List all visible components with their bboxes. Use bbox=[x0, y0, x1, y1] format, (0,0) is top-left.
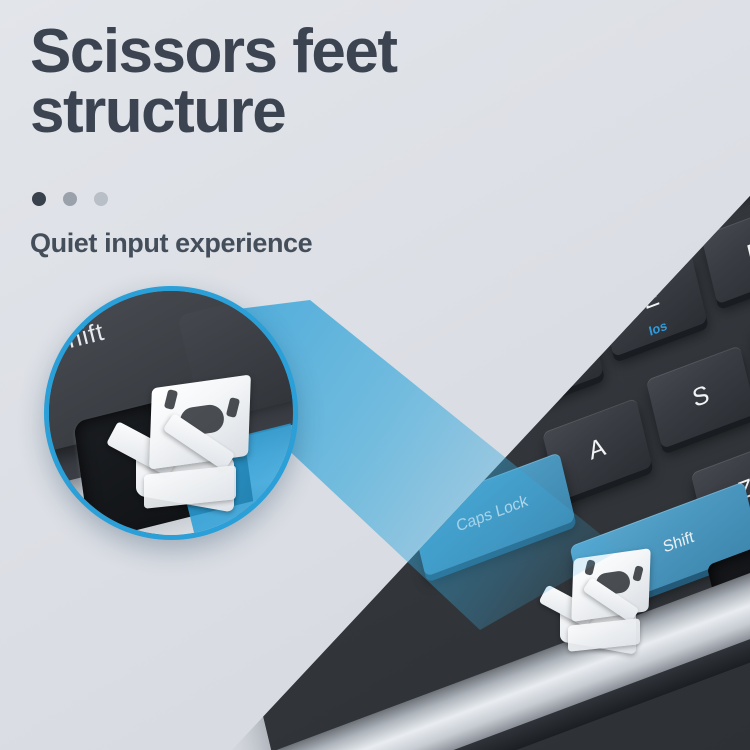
key-f1-label: F1 bbox=[343, 226, 363, 249]
bluetooth-icon bbox=[356, 361, 370, 380]
headline-line-2: structure bbox=[30, 82, 590, 142]
calculator-icon bbox=[691, 45, 714, 70]
key-5[interactable]: % 5 bbox=[674, 113, 750, 211]
dot-active bbox=[32, 192, 46, 206]
key-w-primary: W bbox=[533, 334, 562, 371]
key-4-primary: 4 bbox=[590, 229, 605, 254]
key-5-primary: 5 bbox=[690, 178, 705, 203]
key-r-primary: R bbox=[744, 235, 750, 270]
search-icon bbox=[590, 95, 613, 120]
key-f4-label: F4 bbox=[644, 75, 664, 98]
key-e-primary: E bbox=[640, 283, 662, 317]
page-subtitle: Quiet input experience bbox=[30, 228, 312, 259]
magnifier-callout: Shift bbox=[44, 286, 298, 540]
key-3-primary: 3 bbox=[490, 279, 505, 304]
page-title: Scissors feet structure bbox=[30, 22, 590, 142]
key-5-shift: % bbox=[683, 144, 699, 165]
key-e-secondary: Ios bbox=[647, 318, 668, 339]
key-f4[interactable]: F4 bbox=[580, 66, 681, 159]
key-tab-label: Tab bbox=[319, 463, 347, 490]
key-f5[interactable]: F5 bbox=[680, 16, 750, 109]
key-f2-label: F2 bbox=[443, 175, 463, 198]
key-f5-label: F5 bbox=[744, 25, 750, 48]
key-shift-label: Shift bbox=[662, 529, 696, 558]
key-s-primary: S bbox=[690, 380, 712, 414]
key-f2[interactable]: F2 bbox=[380, 167, 481, 260]
key-q[interactable]: Q Android bbox=[390, 359, 500, 463]
dot-indicators bbox=[32, 192, 108, 206]
key-3-secondary: 2.4G bbox=[538, 258, 570, 284]
key-3[interactable]: # 3 2.4G bbox=[473, 214, 578, 312]
bluetooth-icon bbox=[457, 311, 471, 330]
key-q-secondary: Android bbox=[425, 417, 475, 449]
key-2-primary: 2 bbox=[390, 329, 405, 354]
key-a-primary: A bbox=[586, 433, 608, 467]
shift-arrow-icon bbox=[600, 555, 623, 582]
key-2[interactable]: @ 2 bbox=[373, 264, 478, 362]
display-icon bbox=[390, 196, 413, 221]
dot-second bbox=[63, 192, 77, 206]
key-3-shift: # bbox=[483, 246, 495, 266]
key-q-primary: Q bbox=[431, 387, 456, 422]
dot-third bbox=[94, 192, 108, 206]
screen-mirror-icon bbox=[490, 145, 513, 170]
key-4[interactable]: $ 4 bbox=[573, 163, 678, 261]
key-2-shift: @ bbox=[382, 294, 400, 316]
product-image-canvas: F1 F2 F3 F4 bbox=[0, 0, 750, 750]
headline-line-1: Scissors feet bbox=[30, 17, 397, 86]
key-4-shift: $ bbox=[583, 196, 595, 216]
key-caps-lock-label: Caps Lock bbox=[455, 492, 530, 536]
